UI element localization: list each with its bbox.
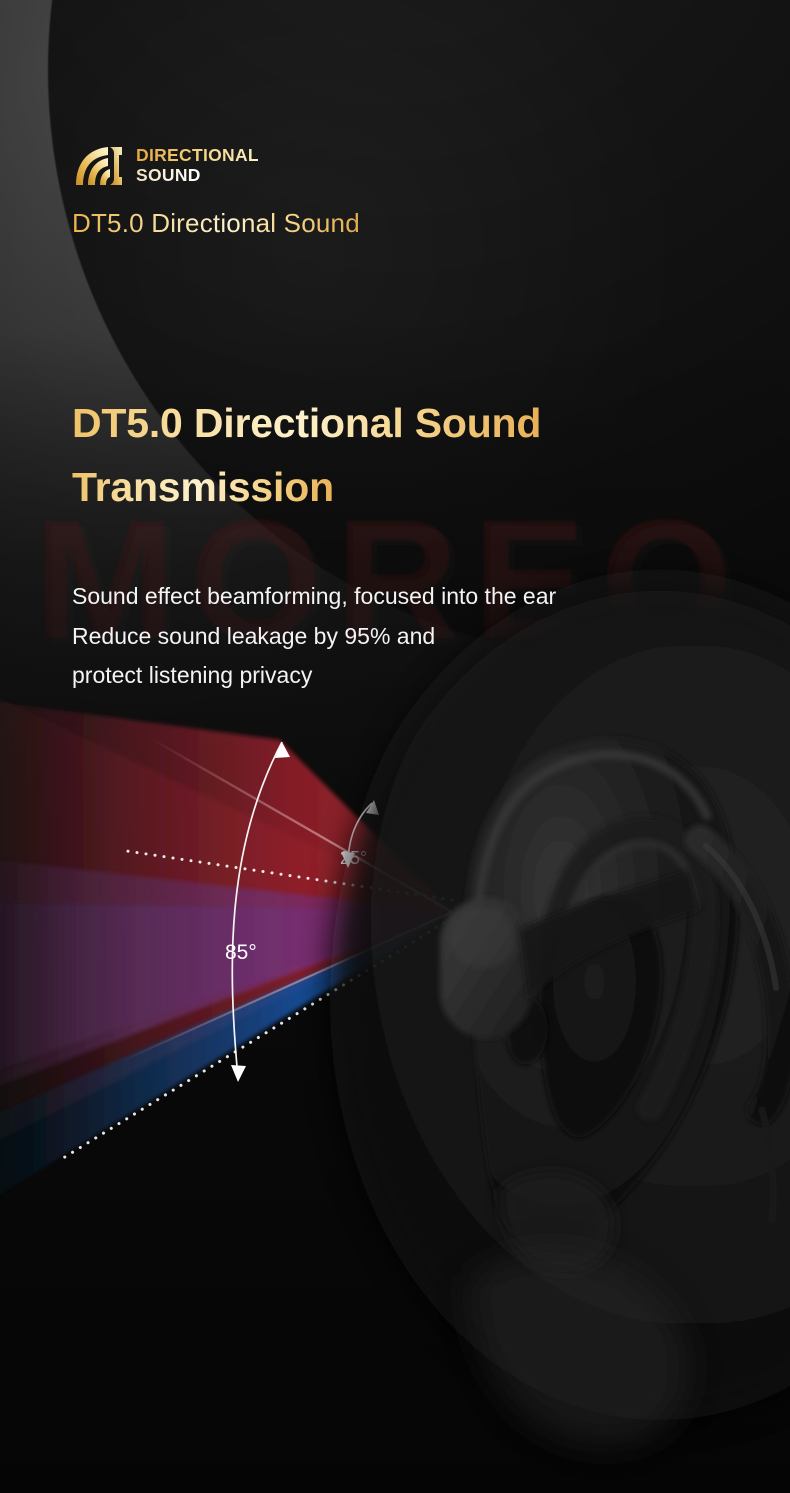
description-text: Sound effect beamforming, focused into t… [72, 577, 772, 696]
page-title-line-1: DT5.0 Directional Sound [72, 400, 541, 446]
description-line-1: Sound effect beamforming, focused into t… [72, 577, 772, 617]
angle-label-85: 85° [225, 941, 257, 964]
brand-line-1: DIRECTIONAL [136, 145, 259, 165]
brand-wordmark: DIRECTIONAL SOUND [136, 143, 259, 186]
page-title-line-2: Transmission [72, 464, 334, 510]
description-line-3: protect listening privacy [72, 656, 772, 696]
brand-lockup: DIRECTIONAL SOUND [72, 143, 259, 187]
directional-sound-waves-icon [72, 143, 124, 187]
directional-sound-beam-diagram: 85° 25° [0, 700, 790, 1220]
brand-subtitle: DT5.0 Directional Sound [72, 208, 360, 239]
angle-arc-85-arrow-bottom [231, 1065, 246, 1082]
product-feature-slide: MOREO MOREO [0, 0, 790, 1493]
brand-line-2: SOUND [136, 165, 259, 185]
angle-label-25: 25° [340, 848, 367, 868]
page-title: DT5.0 Directional Sound Transmission [72, 392, 772, 519]
description-line-2: Reduce sound leakage by 95% and [72, 617, 772, 657]
